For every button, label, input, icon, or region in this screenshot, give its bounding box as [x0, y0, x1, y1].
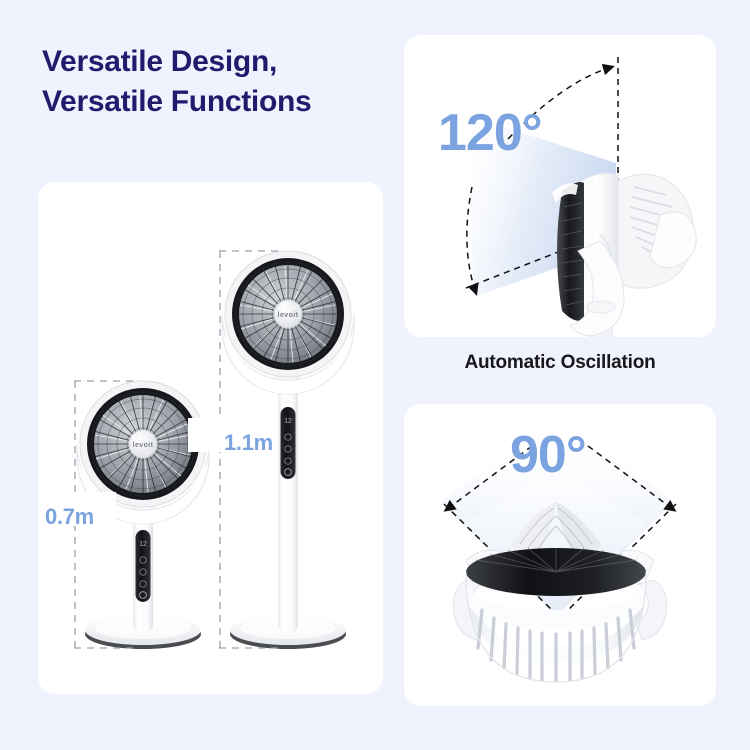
tilt-illustration [404, 35, 716, 337]
feature-caption: Automatic Oscillation [404, 352, 716, 374]
fan-side-view [552, 173, 696, 337]
size-comparison-card: 12 levoit [38, 182, 383, 694]
height-label-tall: 1.1m [224, 430, 273, 456]
size-comparison-illustration: 12 levoit [38, 182, 383, 694]
page-title: Versatile Design, Versatile Functions [42, 42, 402, 121]
product-feature-graphic: Versatile Design, Versatile Functions [0, 0, 750, 750]
headline-line-2: Versatile Functions [42, 82, 402, 122]
height-label-small: 0.7m [45, 504, 94, 530]
oscillation-angle-label: 90° [510, 429, 586, 481]
tilt-angle-label: 120° [438, 107, 542, 159]
brand-label-small: levoit [133, 442, 154, 449]
headline-line-1: Versatile Design, [42, 45, 277, 78]
brand-label-tall: levoit [278, 312, 299, 319]
svg-text:12: 12 [139, 541, 147, 548]
tilt-angle-card: 120° [404, 35, 716, 337]
svg-text:12: 12 [284, 418, 292, 425]
oscillation-angle-card: 90° [404, 404, 716, 706]
